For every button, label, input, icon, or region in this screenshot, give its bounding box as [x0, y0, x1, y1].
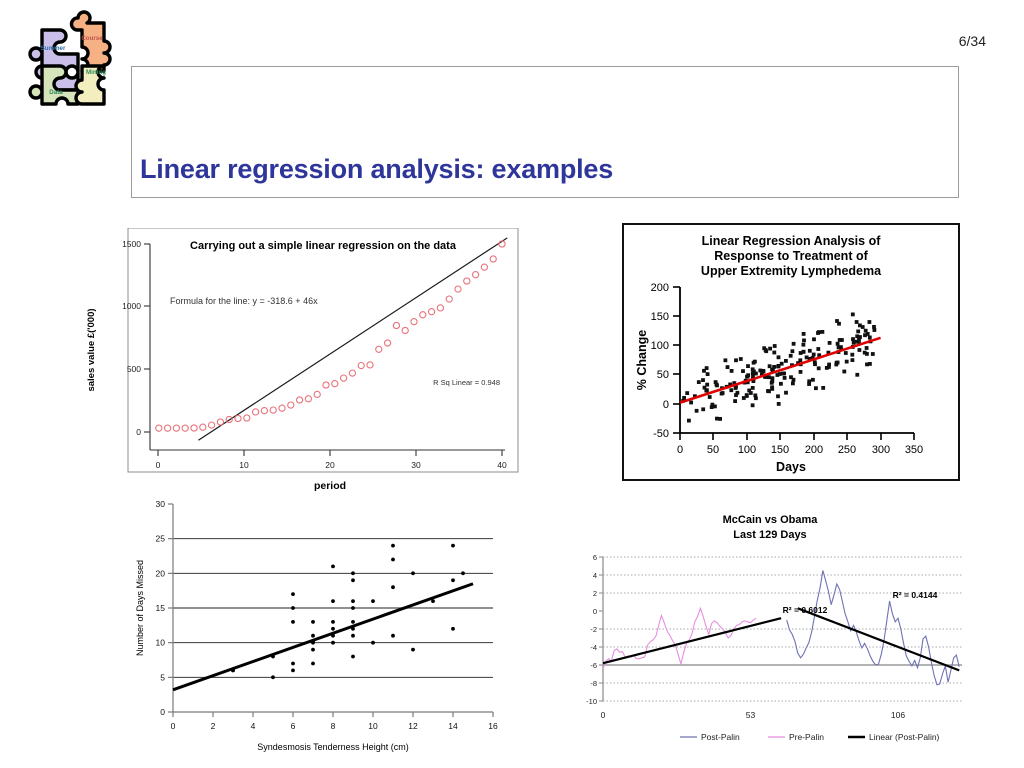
chart2-point: [751, 371, 755, 375]
chart3-y-ticklabel: 5: [160, 672, 165, 682]
chart3-ylabel: Number of Days Missed: [135, 560, 145, 656]
chart4-x-ticklabel: 106: [891, 710, 905, 720]
chart3-y-ticklabel: 25: [156, 534, 166, 544]
chart1-r-squared-note: R Sq Linear = 0.948: [433, 378, 500, 387]
chart2-ylabel: % Change: [635, 330, 649, 390]
chart3-y-ticklabel: 0: [160, 707, 165, 717]
chart4-r-squared-post-palin: R² = 0.4144: [893, 590, 938, 600]
chart2-point: [851, 313, 855, 317]
chart3-x-ticklabel: 6: [291, 721, 296, 731]
chart2-point: [865, 346, 869, 350]
chart2-data-points: [681, 313, 876, 423]
chart2-point: [708, 395, 712, 399]
chart2-point: [726, 365, 730, 369]
chart3-point: [351, 571, 355, 575]
chart2-xtick-350: 350: [905, 444, 923, 456]
chart1-title: Carrying out a simple linear regression …: [190, 240, 457, 252]
chart4-legend-label: Linear (Post-Palin): [869, 732, 940, 742]
chart2-point: [751, 367, 755, 371]
chart4-x-ticklabels: 053106: [601, 710, 906, 720]
chart2-point: [852, 341, 856, 345]
chart2-xtick-300: 300: [872, 444, 890, 456]
chart-mccain-vs-obama: McCain vs Obama Last 129 Days 6420-2-4-6…: [570, 505, 970, 753]
chart3-point: [271, 655, 275, 659]
chart3-point: [411, 571, 415, 575]
chart2-point: [817, 366, 821, 370]
chart3-x-ticks: [173, 712, 493, 717]
chart2-point: [858, 348, 862, 352]
chart4-y-ticklabel: 2: [593, 589, 597, 598]
chart1-ytick-500: 500: [127, 364, 141, 374]
chart2-point: [807, 382, 811, 386]
chart3-x-ticklabel: 8: [331, 721, 336, 731]
chart3-y-ticklabel: 10: [156, 638, 166, 648]
chart3-x-ticklabel: 0: [171, 721, 176, 731]
chart2-point: [844, 351, 848, 355]
chart3-y-ticklabels: 051015202530: [156, 499, 166, 717]
chart3-y-ticklabel: 30: [156, 499, 166, 509]
chart3-point: [331, 599, 335, 603]
chart4-title: McCain vs Obama Last 129 Days: [723, 514, 819, 541]
chart2-point: [816, 331, 820, 335]
chart3-point: [271, 675, 275, 679]
chart4-x-ticklabel: 53: [746, 710, 756, 720]
chart2-point: [746, 364, 750, 368]
chart2-point: [821, 386, 825, 390]
chart4-legend-label: Post-Palin: [701, 732, 740, 742]
chart3-point: [351, 655, 355, 659]
chart2-svg: Linear Regression Analysis of Response t…: [624, 225, 958, 479]
chart3-y-ticklabel: 20: [156, 568, 166, 578]
chart2-point: [868, 362, 872, 366]
chart2-point: [734, 386, 738, 390]
chart2-y-ticks: [673, 287, 680, 433]
chart4-gridlines: [603, 557, 962, 701]
chart1-ytick-1500: 1500: [122, 239, 141, 249]
chart1-frame: [128, 228, 518, 472]
chart2-regression-line: [680, 338, 881, 403]
chart2-point: [704, 389, 708, 393]
chart2-point: [751, 386, 755, 390]
chart3-point: [391, 558, 395, 562]
chart4-svg: McCain vs Obama Last 129 Days 6420-2-4-6…: [570, 505, 970, 753]
chart2-point: [701, 378, 705, 382]
chart4-series-lines: [603, 571, 959, 685]
chart2-point: [868, 336, 872, 340]
chart3-xlabel: Syndesmosis Tenderness Height (cm): [257, 742, 408, 752]
chart2-point: [742, 396, 746, 400]
chart2-point: [851, 358, 855, 362]
chart2-point: [842, 370, 846, 374]
chart2-point: [840, 338, 844, 342]
chart3-point: [311, 634, 315, 638]
chart2-point: [687, 419, 691, 423]
chart3-point: [291, 669, 295, 673]
chart3-point: [291, 592, 295, 596]
chart3-point: [451, 578, 455, 582]
chart3-point: [311, 662, 315, 666]
chart2-point: [783, 376, 787, 380]
chart3-data-points: [231, 544, 465, 680]
chart2-title: Linear Regression Analysis of Response t…: [701, 234, 882, 278]
chart1-xtick-40: 40: [497, 460, 507, 470]
chart3-point: [311, 641, 315, 645]
chart2-ytick-50: 50: [657, 369, 669, 381]
chart3-point: [391, 634, 395, 638]
chart4-x-ticklabel: 0: [601, 710, 606, 720]
chart2-point: [754, 396, 758, 400]
chart3-point: [351, 599, 355, 603]
chart4-y-ticklabel: -6: [590, 661, 597, 670]
chart3-y-ticklabel: 15: [156, 603, 166, 613]
chart2-point: [812, 337, 816, 341]
chart3-point: [231, 669, 235, 673]
chart2-point: [836, 361, 840, 365]
page-indicator: 6/34: [959, 33, 986, 49]
chart2-point: [856, 330, 860, 334]
chart3-point: [331, 641, 335, 645]
chart2-point: [739, 357, 743, 361]
chart2-point: [845, 360, 849, 364]
chart4-r-squared-pre-palin: R² = 0.6012: [783, 605, 828, 615]
chart1-xtick-20: 20: [325, 460, 335, 470]
chart3-x-ticklabel: 2: [211, 721, 216, 731]
chart1-ytick-0: 0: [136, 427, 141, 437]
chart2-point: [868, 320, 872, 324]
chart4-trend-pre-palin: [603, 618, 781, 663]
chart4-legend: Post-PalinPre-PalinLinear (Post-Palin): [680, 732, 940, 742]
chart2-point: [813, 360, 817, 364]
chart3-x-ticklabels: 0246810121416: [171, 721, 498, 731]
chart2-point: [768, 364, 772, 368]
chart2-fit-line: [680, 338, 881, 403]
chart4-y-ticklabel: 4: [593, 571, 597, 580]
chart2-point: [772, 365, 776, 369]
chart2-title-line-1: Linear Regression Analysis of: [702, 234, 882, 248]
chart3-x-ticklabel: 14: [448, 721, 458, 731]
chart2-point: [814, 386, 818, 390]
chart4-y-ticklabel: -2: [590, 625, 597, 634]
chart3-fit-line: [173, 584, 473, 690]
chart2-point: [705, 383, 709, 387]
chart2-xtick-50: 50: [707, 444, 719, 456]
chart2-point: [798, 358, 802, 362]
chart2-point: [811, 378, 815, 382]
chart2-xtick-150: 150: [771, 444, 789, 456]
chart2-point: [825, 366, 829, 370]
chart2-point: [734, 393, 738, 397]
chart3-x-ticklabel: 16: [488, 721, 498, 731]
chart2-point: [770, 387, 774, 391]
chart3-point: [331, 620, 335, 624]
chart2-point: [733, 399, 737, 403]
chart2-point: [747, 389, 751, 393]
chart2-point: [758, 369, 762, 373]
chart2-title-line-2: Response to Treatment of: [714, 249, 868, 263]
chart1-formula-note: Formula for the line: y = -318.6 + 46x: [170, 296, 318, 306]
chart4-y-ticklabel: -10: [586, 697, 597, 706]
puzzle-logo-svg: Summer Course Data Mining: [12, 8, 120, 116]
chart3-point: [291, 620, 295, 624]
chart2-point: [791, 382, 795, 386]
chart2-point: [836, 342, 840, 346]
chart3-point: [391, 585, 395, 589]
chart3-point: [291, 606, 295, 610]
chart4-y-ticklabel: -8: [590, 679, 597, 688]
chart2-point: [792, 342, 796, 346]
chart2-point: [855, 320, 859, 324]
chart4-title-line-1: McCain vs Obama: [723, 514, 819, 526]
chart2-title-line-3: Upper Extremity Lymphedema: [701, 264, 882, 278]
chart2-xtick-0: 0: [677, 444, 683, 456]
chart2-point: [821, 330, 825, 334]
chart3-point: [331, 634, 335, 638]
chart2-ytick-150: 150: [651, 311, 669, 323]
chart2-point: [805, 356, 809, 360]
chart2-point: [715, 417, 719, 421]
chart2-point: [724, 358, 728, 362]
chart2-xtick-100: 100: [738, 444, 756, 456]
chart2-point: [752, 361, 756, 365]
chart1-xtick-30: 30: [411, 460, 421, 470]
chart2-point: [784, 359, 788, 363]
chart2-point: [827, 363, 831, 367]
chart3-x-ticklabel: 4: [251, 721, 256, 731]
chart3-point: [411, 648, 415, 652]
chart1-ytick-1000: 1000: [122, 301, 141, 311]
chart2-y-ticklabels: 200 150 100 50 0 -50: [651, 282, 669, 440]
chart2-point: [746, 373, 750, 377]
chart2-point: [702, 369, 706, 373]
chart4-y-ticklabel: 6: [593, 553, 597, 562]
chart3-point: [351, 627, 355, 631]
chart-lymphedema-regression: Linear Regression Analysis of Response t…: [622, 223, 960, 481]
chart2-xtick-200: 200: [805, 444, 823, 456]
chart2-point: [741, 369, 745, 373]
chart2-ytick-100: 100: [651, 340, 669, 352]
puzzle-label-data: Data: [49, 89, 63, 96]
chart2-point: [682, 396, 686, 400]
chart2-point: [773, 344, 777, 348]
chart1-xlabel: period: [314, 480, 346, 492]
chart2-point: [764, 348, 768, 352]
chart3-gridlines: [173, 539, 493, 678]
chart2-point: [772, 351, 776, 355]
page-title: Linear regression analysis: examples: [140, 154, 613, 185]
chart4-title-line-2: Last 129 Days: [733, 529, 806, 541]
chart3-point: [351, 634, 355, 638]
chart2-point: [695, 409, 699, 413]
chart4-pre-palin-line: [603, 608, 756, 668]
chart4-trend-post-palin: [798, 608, 959, 670]
chart2-point: [799, 370, 803, 374]
chart2-point: [850, 353, 854, 357]
chart3-point: [351, 606, 355, 610]
chart4-y-ticklabels: 6420-2-4-6-8-10: [586, 553, 597, 706]
chart2-point: [866, 332, 870, 336]
chart3-point: [371, 641, 375, 645]
chart2-point: [776, 365, 780, 369]
chart2-point: [858, 335, 862, 339]
chart3-point: [431, 599, 435, 603]
chart2-point: [715, 384, 719, 388]
chart2-point: [835, 319, 839, 323]
chart1-ylabel: sales value £('000): [86, 308, 97, 391]
chart3-svg: 051015202530 0246810121416 Number of Day…: [130, 492, 510, 760]
chart2-point: [720, 392, 724, 396]
puzzle-label-course: Course: [81, 35, 103, 42]
chart2-point: [851, 337, 855, 341]
chart3-x-ticklabel: 12: [408, 721, 418, 731]
chart2-point: [802, 339, 806, 343]
chart2-ytick-200: 200: [651, 282, 669, 294]
chart1-xtick-10: 10: [239, 460, 249, 470]
chart3-point: [291, 662, 295, 666]
chart2-point: [706, 372, 710, 376]
chart3-point: [331, 627, 335, 631]
chart2-point: [777, 402, 781, 406]
chart2-x-ticks: [680, 433, 914, 440]
chart2-point: [871, 352, 875, 356]
chart2-point: [865, 352, 869, 356]
chart2-x-ticklabels: 0 50 100 150 200 250 300 350: [677, 444, 923, 456]
chart2-xlabel: Days: [776, 460, 806, 474]
chart2-point: [791, 349, 795, 353]
chart2-xtick-250: 250: [838, 444, 856, 456]
chart4-legend-label: Pre-Palin: [789, 732, 824, 742]
chart2-point: [689, 401, 693, 405]
chart2-point: [861, 325, 865, 329]
puzzle-label-summer: Summer: [41, 45, 66, 52]
chart2-ytick-0: 0: [663, 399, 669, 411]
chart2-point: [697, 380, 701, 384]
chart1-xtick-0: 0: [156, 460, 161, 470]
chart2-point: [751, 403, 755, 407]
chart3-point: [331, 565, 335, 569]
chart2-point: [789, 354, 793, 358]
chart2-point: [828, 341, 832, 345]
chart2-point: [792, 378, 796, 382]
chart2-point: [812, 353, 816, 357]
chart3-point: [311, 620, 315, 624]
puzzle-logo: Summer Course Data Mining: [12, 8, 120, 116]
chart3-point: [391, 544, 395, 548]
chart3-regression-line: [173, 584, 473, 690]
chart-sales-period-regression: 0 500 1000 1500 0 10 20 30 40 Carrying o…: [80, 228, 520, 498]
chart3-point: [451, 627, 455, 631]
chart2-ytick--50: -50: [653, 428, 669, 440]
chart2-point: [768, 347, 772, 351]
chart3-point: [451, 544, 455, 548]
chart3-point: [311, 648, 315, 652]
chart3-x-ticklabel: 10: [368, 721, 378, 731]
chart4-y-ticklabel: -4: [590, 643, 597, 652]
chart3-y-ticks: [168, 504, 173, 712]
chart3-point: [351, 620, 355, 624]
chart2-point: [701, 407, 705, 411]
chart2-point: [730, 369, 734, 373]
chart2-point: [802, 350, 806, 354]
chart2-point: [713, 405, 717, 409]
chart3-point: [351, 578, 355, 582]
chart2-point: [872, 325, 876, 329]
chart2-point: [784, 391, 788, 395]
chart2-point: [729, 388, 733, 392]
chart2-point: [779, 382, 783, 386]
chart2-point: [776, 394, 780, 398]
chart2-point: [770, 379, 774, 383]
chart3-point: [461, 571, 465, 575]
puzzle-label-mining: Mining: [86, 69, 106, 76]
chart2-point: [777, 355, 781, 359]
chart2-point: [802, 343, 806, 347]
chart-syndesmosis-days-missed: 051015202530 0246810121416 Number of Day…: [130, 492, 510, 760]
chart2-point: [802, 332, 806, 336]
chart2-point: [734, 358, 738, 362]
chart2-point: [781, 372, 785, 376]
chart4-y-ticklabel: 0: [593, 607, 597, 616]
chart4-post-palin-line: [787, 571, 960, 685]
chart2-point: [685, 391, 689, 395]
chart1-svg: 0 500 1000 1500 0 10 20 30 40 Carrying o…: [80, 228, 520, 500]
chart2-point: [816, 347, 820, 351]
chart3-point: [371, 599, 375, 603]
chart2-point: [855, 373, 859, 377]
chart2-point: [808, 349, 812, 353]
